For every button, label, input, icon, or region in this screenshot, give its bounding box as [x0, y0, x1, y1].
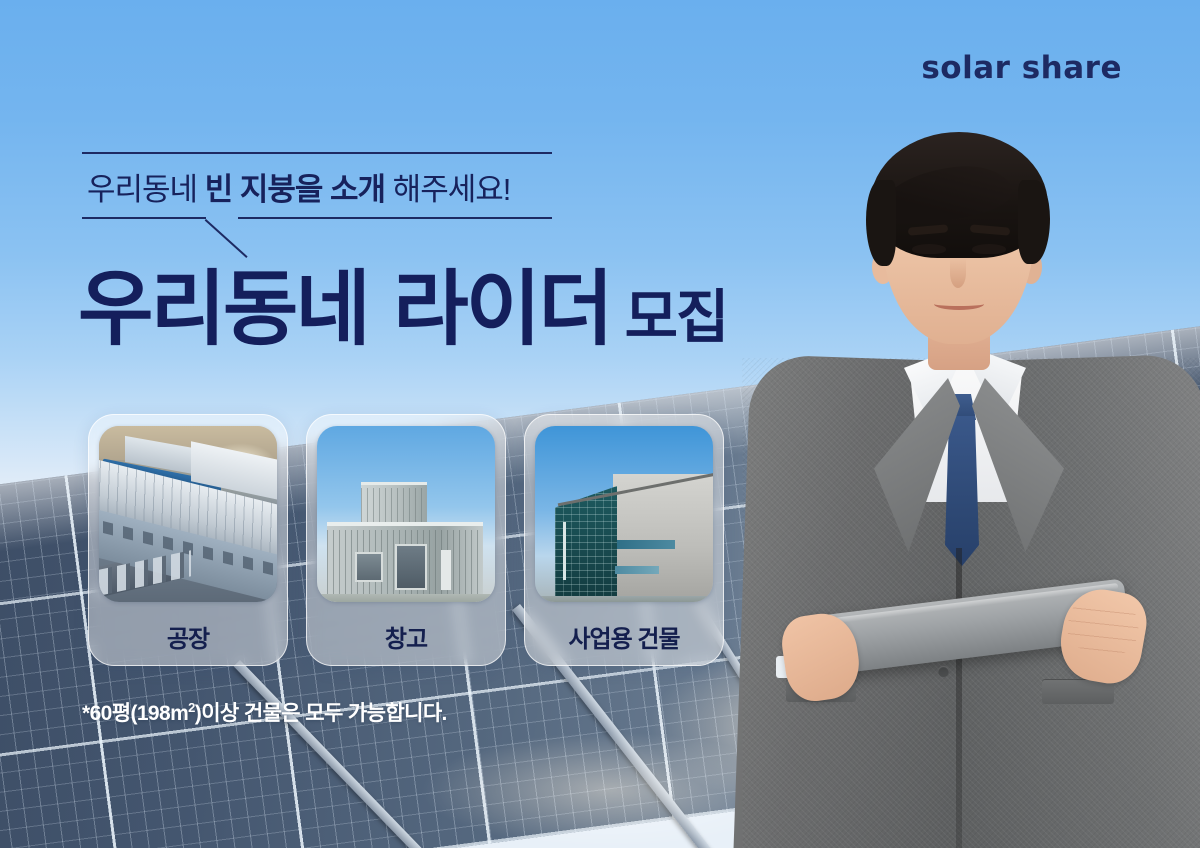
page-title: 우리동네 라이더모집	[78, 242, 727, 361]
bubble-rule-gap	[206, 217, 238, 219]
tagline-speech-bubble: 우리동네 빈 지붕을 소개 해주세요!	[82, 152, 552, 219]
warehouse-ground	[317, 594, 495, 602]
warehouse-photo	[317, 426, 495, 602]
footnote-suffix: )이상 건물은 모두 가능합니다.	[195, 702, 447, 725]
factory-aerial-photo	[99, 426, 277, 602]
warehouse-door	[395, 544, 427, 590]
warehouse-window	[355, 552, 383, 582]
jacket-pocket-right	[1042, 680, 1114, 704]
model-photo	[742, 108, 1200, 848]
necktie	[945, 416, 979, 566]
card-label-warehouse: 창고	[385, 619, 427, 654]
jacket-placket	[956, 548, 962, 848]
tagline-emphasis: 빈 지붕을 소개	[205, 172, 385, 207]
nose	[950, 258, 966, 288]
card-warehouse[interactable]: 창고	[306, 414, 506, 666]
bubble-rule-bottom-left	[82, 217, 206, 219]
eye-left	[912, 244, 946, 254]
headline-sub: 모집	[625, 283, 728, 351]
jacket-button	[938, 666, 949, 677]
footnote-superscript: 2	[188, 700, 195, 715]
tagline-suffix: 해주세요!	[385, 172, 510, 207]
tagline-prefix: 우리동네	[87, 172, 205, 207]
bubble-rule-bottom-right	[238, 217, 552, 219]
card-label-commercial: 사업용 건물	[568, 619, 679, 654]
card-label-factory: 공장	[167, 619, 209, 654]
tagline-text: 우리동네 빈 지붕을 소개 해주세요!	[82, 154, 552, 217]
building-concrete-face	[613, 474, 713, 602]
hair-side-right	[1018, 180, 1050, 264]
promo-banner: solar share 우리동네 빈 지붕을 소개 해주세요! 우리동네 라이더…	[0, 0, 1200, 848]
hair-side-left	[866, 180, 896, 266]
eye-right	[972, 244, 1006, 254]
headline-main: 우리동네 라이더	[78, 262, 611, 357]
eligibility-footnote: *60평(198m2)이상 건물은 모두 가능합니다.	[82, 697, 447, 727]
building-type-cards: 공장 창고 사업용 건물	[88, 414, 724, 666]
building-ground	[535, 596, 713, 602]
building-window-band	[615, 566, 659, 574]
card-factory[interactable]: 공장	[88, 414, 288, 666]
card-commercial-building[interactable]: 사업용 건물	[524, 414, 724, 666]
smiling-mouth	[934, 298, 984, 310]
building-window-band	[617, 540, 675, 549]
bubble-rule-bottom	[82, 217, 552, 219]
brand-logo[interactable]: solar share	[921, 50, 1122, 86]
commercial-building-photo	[535, 426, 713, 602]
building-mast	[563, 522, 566, 580]
warehouse-upper-block	[361, 482, 427, 526]
footnote-prefix: *60평(198m	[82, 702, 188, 725]
warehouse-vent	[441, 550, 451, 590]
